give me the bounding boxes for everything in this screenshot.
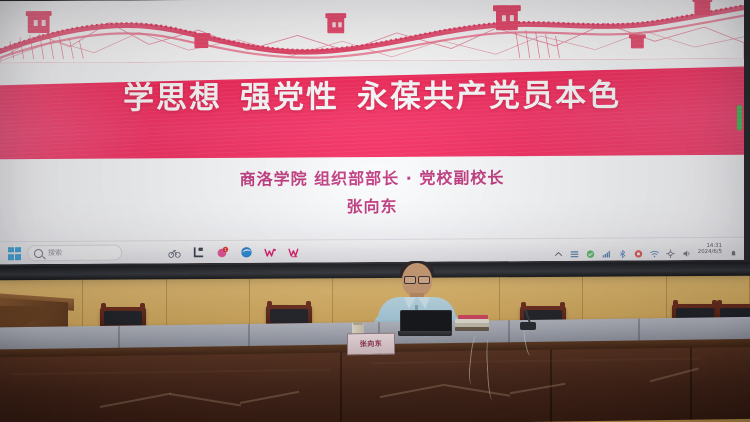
slide-subtitle-affiliation: 商洛学院 组织部部长 · 党校副校长 (0, 163, 744, 192)
search-placeholder: 搜索 (48, 248, 62, 258)
security-shield-icon[interactable] (586, 245, 595, 254)
name-plate: 张向东 (347, 333, 395, 356)
notification-bell-icon[interactable] (729, 244, 738, 253)
taskbar-search-box[interactable]: 搜索 (27, 245, 122, 262)
taskbar-tray-group: 14:31 2024/6/5 (554, 242, 744, 256)
taskbar-clock[interactable]: 14:31 2024/6/5 (698, 242, 722, 255)
wifi-icon[interactable] (650, 245, 659, 254)
projection-screen-frame: 学思想强党性永葆共产党员本色 商洛学院 组织部部长 · 党校副校长 张向东 搜索 (0, 0, 750, 270)
notification-app-icon[interactable]: 1 (216, 245, 229, 258)
slide-scrollbar-indicator[interactable] (737, 105, 742, 131)
wps-writer-icon[interactable] (264, 245, 277, 258)
taskbar-left-group: 搜索 (0, 245, 122, 262)
laptop-keyboard (398, 331, 452, 336)
search-icon (34, 249, 43, 258)
taskbar-app-group: 1 (168, 245, 301, 259)
conference-desk-front (0, 346, 750, 422)
clock-date: 2024/6/5 (698, 249, 722, 256)
antivirus-icon[interactable] (634, 245, 643, 254)
laptop (398, 310, 452, 336)
windows-start-icon[interactable] (8, 247, 21, 260)
bluetooth-icon[interactable] (618, 245, 627, 254)
file-explorer-icon[interactable] (192, 246, 205, 259)
slide-subtitle-speaker-name: 张向东 (0, 191, 744, 220)
slide-title-part-1: 学思想 (123, 80, 222, 117)
input-method-icon[interactable] (570, 245, 579, 254)
show-hidden-icons-chevron[interactable] (554, 245, 563, 254)
microphone-base (520, 322, 536, 330)
slide-title-part-3: 永葆共产党员本色 (357, 77, 621, 115)
bicycle-app-icon[interactable] (168, 246, 181, 259)
conference-room-photo: 学思想强党性永葆共产党员本色 商洛学院 组织部部长 · 党校副校长 张向东 搜索 (0, 0, 750, 422)
presentation-slide: 学思想强党性永葆共产党员本色 商洛学院 组织部部长 · 党校副校长 张向东 搜索 (0, 0, 744, 264)
slide-title: 学思想强党性永葆共产党员本色 (0, 69, 744, 119)
name-plate-text: 张向东 (360, 339, 383, 349)
eyeglasses-icon (404, 276, 430, 282)
book-stack (455, 315, 489, 333)
projection-screen: 学思想强党性永葆共产党员本色 商洛学院 组织部部长 · 党校副校长 张向东 搜索 (0, 0, 744, 264)
windows-taskbar: 搜索 (0, 237, 744, 265)
edge-browser-icon[interactable] (240, 245, 253, 258)
volume-icon[interactable] (682, 245, 691, 254)
network-signal-icon[interactable] (602, 245, 611, 254)
slide-title-part-2: 强党性 (240, 79, 339, 116)
settings-gear-icon[interactable] (666, 245, 675, 254)
wps-presentation-icon[interactable] (288, 245, 301, 258)
